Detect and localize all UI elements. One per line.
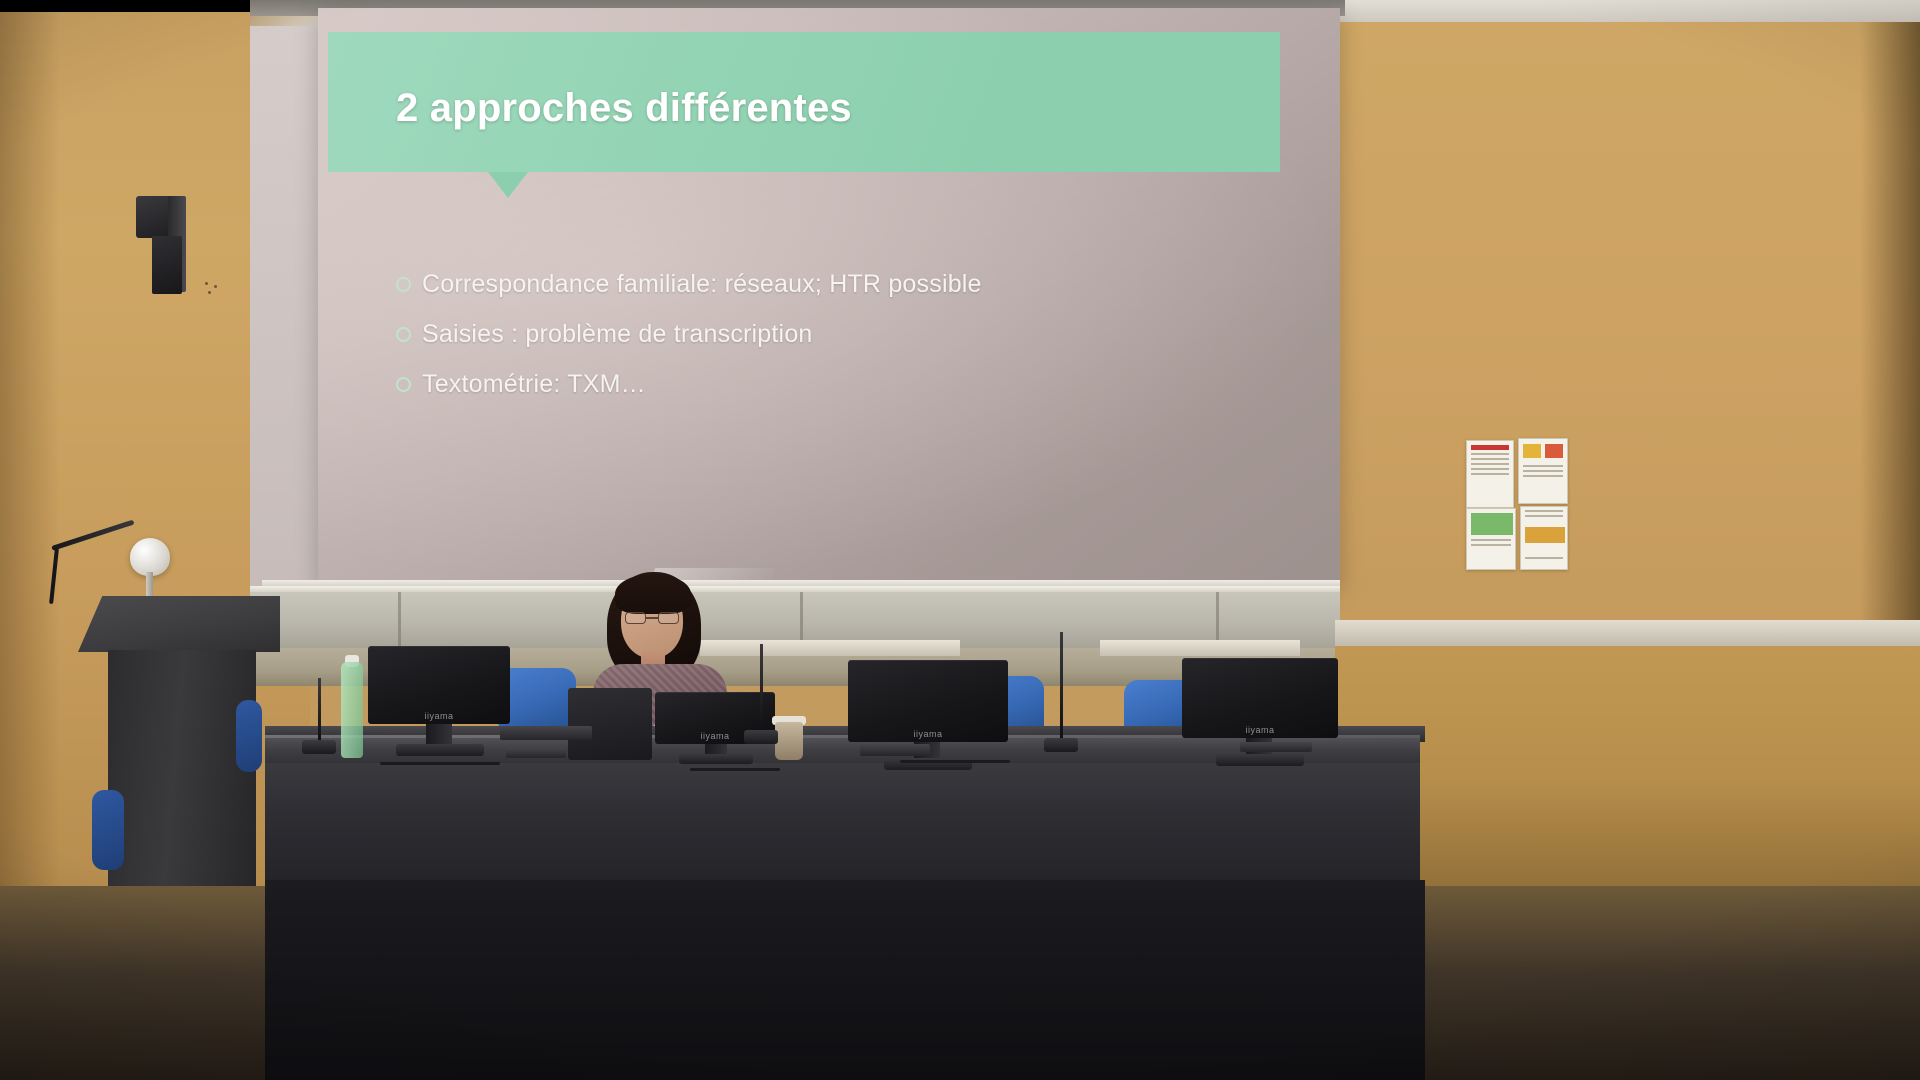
poster-line <box>1523 475 1563 477</box>
monitor-base <box>679 754 753 764</box>
poster-line <box>1471 539 1511 541</box>
monitor: iiyama <box>655 692 775 764</box>
poster-line <box>1471 473 1509 475</box>
microphone-stem <box>760 644 763 730</box>
glasses-icon <box>625 612 679 624</box>
monitor-brand-label: iiyama <box>1245 725 1274 735</box>
poster-line <box>1523 470 1563 472</box>
poster-block <box>1471 513 1513 535</box>
safety-notice-poster <box>1466 508 1516 570</box>
poster-line <box>1471 544 1511 546</box>
microphone-stem <box>318 678 321 740</box>
lamp-neck <box>146 572 153 598</box>
poster-line <box>1471 463 1509 465</box>
desk-shadow <box>265 880 1425 1080</box>
circle-outline-bullet-icon <box>396 377 411 392</box>
mouse-pad <box>506 748 566 758</box>
poster-line <box>1525 510 1563 512</box>
desk-front-panel <box>265 763 1420 885</box>
list-item: Saisies : problème de transcription <box>396 320 1276 349</box>
chair <box>236 700 262 772</box>
list-item: Correspondance familiale: réseaux; HTR p… <box>396 270 1276 299</box>
presentation-slide: 2 approches différentes Correspondance f… <box>318 8 1340 586</box>
whiteboard-tray <box>700 640 960 656</box>
whiteboard-divider <box>398 592 401 650</box>
poster-line <box>1523 465 1563 467</box>
bullet-text: Saisies : problème de transcription <box>422 320 813 349</box>
coffee-cup <box>775 722 803 760</box>
monitor-base <box>396 744 484 756</box>
right-wall-lower <box>1335 646 1920 886</box>
poster-line <box>1471 458 1509 460</box>
bullet-text: Textométrie: TXM… <box>422 370 646 399</box>
slide-banner-notch-icon <box>488 172 528 198</box>
circle-outline-bullet-icon <box>396 327 411 342</box>
safety-notice-poster <box>1518 438 1568 504</box>
poster-line <box>1525 557 1563 559</box>
monitor-base <box>1216 754 1304 766</box>
projection-screen: 2 approches différentes Correspondance f… <box>318 8 1340 586</box>
poster-line <box>1525 515 1563 517</box>
microphone-base <box>302 740 336 754</box>
microphone-base <box>744 730 778 744</box>
monitor-stand <box>426 724 452 746</box>
microphone-base <box>1044 738 1078 752</box>
wall-speaker-body <box>152 236 182 294</box>
poster-line <box>1471 453 1509 455</box>
keyboard[interactable] <box>860 744 930 756</box>
bullet-text: Correspondance familiale: réseaux; HTR p… <box>422 270 982 299</box>
chair <box>92 790 124 870</box>
cable <box>380 762 500 765</box>
poster-block <box>1523 444 1541 458</box>
slide-title: 2 approches différentes <box>396 86 852 131</box>
microphone-stem <box>1060 632 1063 738</box>
lamp-icon <box>130 538 170 576</box>
safety-notice-poster <box>1520 506 1568 570</box>
cable <box>690 768 780 771</box>
lecture-hall-scene: 2 approches différentes Correspondance f… <box>0 0 1920 1080</box>
safety-notice-poster <box>1466 440 1514 508</box>
monitor-screen: iiyama <box>1182 658 1338 738</box>
wall-marks <box>205 282 223 296</box>
lectern-body <box>108 650 256 898</box>
circle-outline-bullet-icon <box>396 277 411 292</box>
right-wall-trim <box>1335 620 1920 646</box>
monitor-brand-label: iiyama <box>700 731 729 741</box>
laptop <box>568 688 652 760</box>
water-bottle <box>341 662 363 758</box>
poster-block <box>1525 527 1565 543</box>
list-item: Textométrie: TXM… <box>396 370 1276 399</box>
frame-edge <box>0 0 250 12</box>
monitor: iiyama <box>368 646 510 756</box>
poster-block <box>1545 444 1563 458</box>
poster-line <box>1471 468 1509 470</box>
lectern-top <box>78 596 280 652</box>
keyboard[interactable] <box>500 726 592 740</box>
slide-bullet-list: Correspondance familiale: réseaux; HTR p… <box>396 270 1276 420</box>
monitor-brand-label: iiyama <box>913 729 942 739</box>
cable <box>900 760 1010 763</box>
presenter-hair-front <box>615 574 691 614</box>
poster-heading <box>1471 445 1509 450</box>
keyboard[interactable] <box>1240 742 1312 752</box>
monitor-screen: iiyama <box>848 660 1008 742</box>
whiteboard-tray <box>1100 640 1300 656</box>
monitor-brand-label: iiyama <box>424 711 453 721</box>
monitor-screen: iiyama <box>368 646 510 724</box>
